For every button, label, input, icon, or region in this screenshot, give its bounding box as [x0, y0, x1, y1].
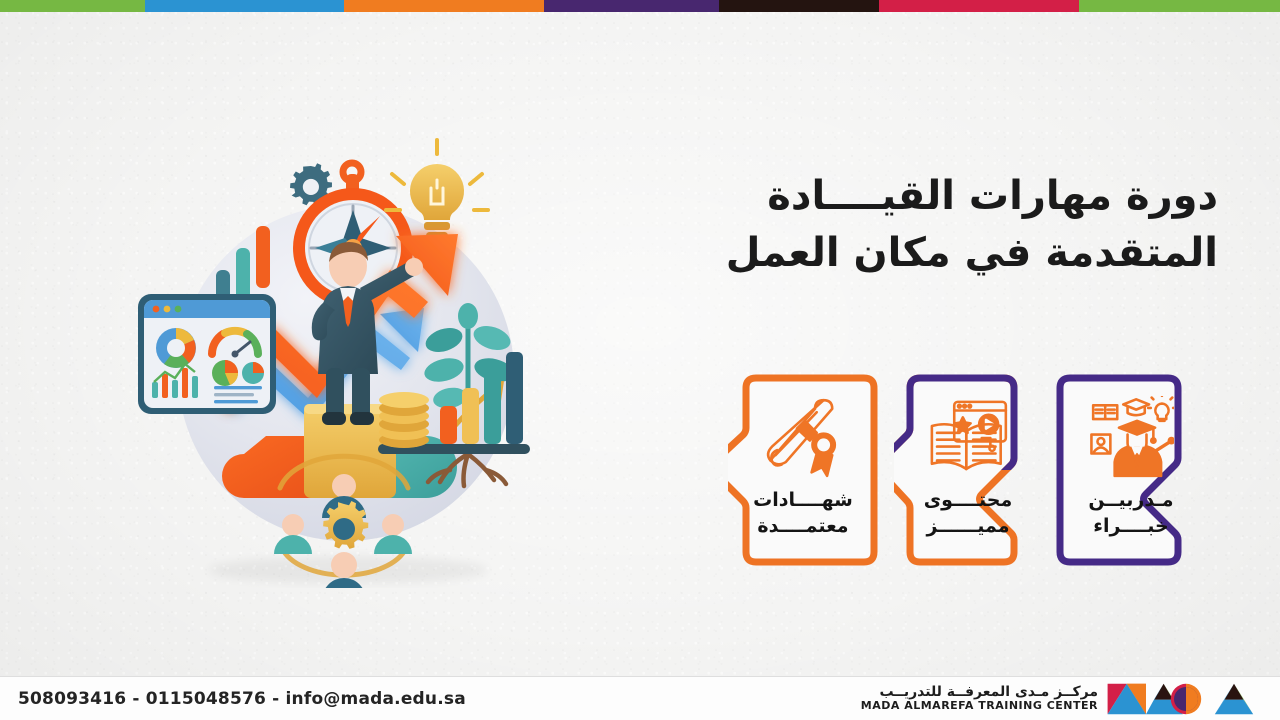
title-line-2: المتقدمة في مكان العمل — [658, 225, 1218, 282]
card-label-line-1: مـدربيــن — [1070, 488, 1192, 514]
top-bar-segment-black — [719, 0, 879, 12]
card-label-line-1: شهــــادات — [742, 488, 864, 514]
card-label-expert-trainers: مـدربيــن خبــــراء — [1070, 488, 1192, 556]
card-label-line-2: خبــــراء — [1070, 514, 1192, 540]
mada-logo-mark — [1106, 682, 1266, 716]
feature-cards: مـدربيــن خبــــراء — [728, 372, 1206, 568]
brand-logo: مركــز مـدى المعرفــة للتدريــب MADA ALM… — [861, 682, 1266, 716]
page-title: دورة مهارات القيــــادة المتقدمة في مكان… — [658, 168, 1218, 282]
banner-canvas: دورة مهارات القيــــادة المتقدمة في مكان… — [0, 0, 1280, 720]
top-bar-segment-orange — [344, 0, 544, 12]
footer-bar: 508093416 - 0115048576 - info@mada.edu.s… — [0, 676, 1280, 720]
top-bar-segment-crimson — [879, 0, 1079, 12]
feature-card-expert-trainers[interactable]: مـدربيــن خبــــراء — [1056, 372, 1206, 568]
top-bar-segment-green2 — [1079, 0, 1280, 12]
coin-stack — [379, 392, 429, 448]
top-bar-segment-blue — [145, 0, 345, 12]
top-bar-segment-purple — [544, 0, 719, 12]
hero-illustration — [118, 118, 568, 588]
card-label-line-2: مميــــــز — [908, 514, 1028, 540]
feature-card-accredited-certificates[interactable]: شهــــادات معتمــــدة — [728, 372, 878, 568]
teacher-graduation-icon — [1088, 396, 1174, 480]
contact-info[interactable]: 508093416 - 0115048576 - info@mada.edu.s… — [18, 689, 466, 709]
brand-name-arabic: مركــز مـدى المعرفــة للتدريــب — [861, 685, 1098, 701]
brand-name-english: MADA ALMAREFA TRAINING CENTER — [861, 700, 1098, 712]
card-label-premium-content: محتــــوى مميــــــز — [908, 488, 1028, 556]
top-bar-segment-green — [0, 0, 145, 12]
title-line-1: دورة مهارات القيــــادة — [658, 168, 1218, 225]
diploma-scroll-icon — [760, 396, 846, 480]
feature-card-premium-content[interactable]: محتــــوى مميــــــز — [894, 372, 1042, 568]
analytics-dashboard — [138, 294, 276, 414]
top-color-bar — [0, 0, 1280, 12]
open-book-video-icon — [925, 396, 1011, 480]
card-label-line-2: معتمــــدة — [742, 514, 864, 540]
brand-text: مركــز مـدى المعرفــة للتدريــب MADA ALM… — [861, 685, 1098, 713]
card-label-line-1: محتــــوى — [908, 488, 1028, 514]
card-label-accredited-certificates: شهــــادات معتمــــدة — [742, 488, 864, 556]
